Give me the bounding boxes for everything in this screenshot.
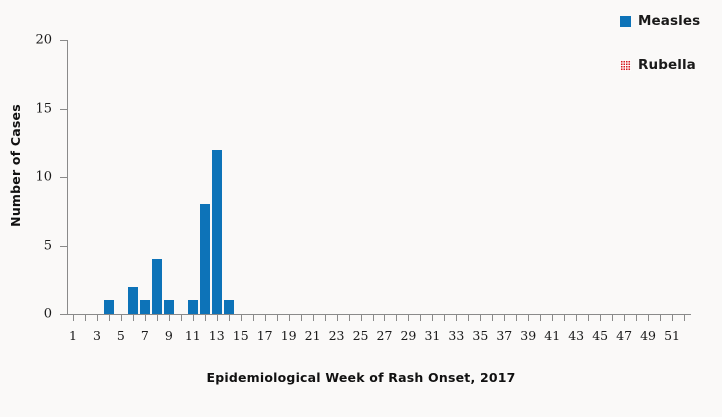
x-axis-tick <box>456 315 457 321</box>
y-axis-tick <box>60 109 67 110</box>
x-axis-tick-label: 7 <box>141 328 149 343</box>
x-axis-tick-label: 39 <box>520 328 536 343</box>
x-axis-tick <box>408 315 409 321</box>
y-axis-tick-label: 5 <box>0 238 52 253</box>
bar-measles-week-8[interactable] <box>152 259 162 314</box>
x-axis-tick-label: 19 <box>281 328 297 343</box>
y-axis-tick <box>60 40 67 41</box>
x-axis-tick <box>396 315 397 321</box>
bar-measles-week-9[interactable] <box>164 300 174 314</box>
x-axis-tick <box>516 315 517 321</box>
x-axis-tick <box>420 315 421 321</box>
x-axis-tick <box>552 315 553 321</box>
x-axis-tick-label: 3 <box>93 328 101 343</box>
x-axis-tick <box>432 315 433 321</box>
x-axis-tick-label: 13 <box>209 328 225 343</box>
y-axis-tick-label: 20 <box>0 33 52 48</box>
plot-area <box>67 40 690 314</box>
y-axis-tick <box>60 177 67 178</box>
x-axis-tick <box>672 315 673 321</box>
x-axis-tick <box>97 315 98 321</box>
x-axis-tick <box>193 315 194 321</box>
x-axis-title-text: Epidemiological Week of Rash Onset, 2017 <box>206 370 515 385</box>
x-axis-tick <box>253 315 254 321</box>
x-axis-tick-label: 9 <box>165 328 173 343</box>
x-axis-tick <box>121 315 122 321</box>
x-axis-tick <box>109 315 110 321</box>
x-axis-tick <box>217 315 218 321</box>
x-axis-tick <box>684 315 685 321</box>
x-axis-tick-label: 5 <box>117 328 125 343</box>
bar-measles-week-13[interactable] <box>212 150 222 314</box>
x-axis-tick <box>229 315 230 321</box>
x-axis-tick <box>528 315 529 321</box>
x-axis-tick <box>660 315 661 321</box>
x-axis-tick-label: 45 <box>592 328 608 343</box>
x-axis-tick-label: 15 <box>233 328 249 343</box>
x-axis-tick <box>540 315 541 321</box>
x-axis-title: Epidemiological Week of Rash Onset, 2017 <box>0 370 722 385</box>
x-axis-tick-label: 17 <box>257 328 273 343</box>
solid-blue-square-icon <box>620 16 631 27</box>
x-axis-tick <box>361 315 362 321</box>
x-axis-tick <box>85 315 86 321</box>
x-axis-tick-label: 29 <box>400 328 416 343</box>
bar-measles-week-12[interactable] <box>200 204 210 314</box>
x-axis-tick-label: 49 <box>640 328 656 343</box>
x-axis-tick <box>624 315 625 321</box>
bar-measles-week-6[interactable] <box>128 287 138 314</box>
x-axis-tick-label: 31 <box>424 328 440 343</box>
x-axis-tick-label: 35 <box>472 328 488 343</box>
x-axis-tick <box>588 315 589 321</box>
x-axis-tick <box>325 315 326 321</box>
x-axis-tick <box>636 315 637 321</box>
x-axis-tick-label: 23 <box>329 328 345 343</box>
x-axis-tick <box>349 315 350 321</box>
x-axis-tick <box>169 315 170 321</box>
x-axis-tick <box>504 315 505 321</box>
x-axis-tick-label: 21 <box>305 328 321 343</box>
bar-measles-week-14[interactable] <box>224 300 234 314</box>
x-axis-tick <box>313 315 314 321</box>
legend-item-measles[interactable]: Measles <box>620 10 720 32</box>
x-axis-tick <box>145 315 146 321</box>
measles-rubella-bar-chart: Measles Rubella Number of Cases 05101520… <box>0 0 722 417</box>
x-axis-tick <box>492 315 493 321</box>
legend-label-measles: Measles <box>638 13 700 29</box>
y-axis-tick-label: 10 <box>0 170 52 185</box>
x-axis-tick <box>73 315 74 321</box>
x-axis-tick-label: 51 <box>664 328 680 343</box>
x-axis-tick <box>289 315 290 321</box>
x-axis-tick <box>468 315 469 321</box>
x-axis-tick <box>373 315 374 321</box>
x-axis-tick <box>181 315 182 321</box>
bar-measles-week-11[interactable] <box>188 300 198 314</box>
x-axis-tick-label: 37 <box>496 328 512 343</box>
x-axis-tick <box>384 315 385 321</box>
x-axis-tick <box>444 315 445 321</box>
y-axis-tick <box>60 246 67 247</box>
x-axis-tick <box>133 315 134 321</box>
x-axis-tick <box>301 315 302 321</box>
x-axis-tick <box>612 315 613 321</box>
x-axis-tick <box>337 315 338 321</box>
x-axis-tick <box>157 315 158 321</box>
x-axis-tick-label: 11 <box>185 328 201 343</box>
x-axis-tick-label: 27 <box>377 328 393 343</box>
y-axis-tick-label: 15 <box>0 101 52 116</box>
x-axis-tick <box>648 315 649 321</box>
x-axis-tick <box>600 315 601 321</box>
x-axis-tick <box>277 315 278 321</box>
x-axis-tick <box>265 315 266 321</box>
x-axis-line <box>67 314 691 315</box>
x-axis-tick <box>576 315 577 321</box>
y-axis-tick <box>60 314 67 315</box>
y-axis-title-text: Number of Cases <box>8 104 23 227</box>
x-axis-tick-label: 43 <box>568 328 584 343</box>
bar-measles-week-7[interactable] <box>140 300 150 314</box>
x-axis-tick <box>564 315 565 321</box>
x-axis-tick-label: 1 <box>69 328 77 343</box>
x-axis-tick-label: 41 <box>544 328 560 343</box>
y-axis-tick-label: 0 <box>0 307 52 322</box>
x-axis-tick-label: 47 <box>616 328 632 343</box>
y-axis-title: Number of Cases <box>2 0 28 330</box>
x-axis-tick-label: 25 <box>353 328 369 343</box>
x-axis-tick <box>480 315 481 321</box>
bar-measles-week-4[interactable] <box>104 300 114 314</box>
x-axis-tick <box>205 315 206 321</box>
x-axis-tick-label: 33 <box>448 328 464 343</box>
x-axis-tick <box>241 315 242 321</box>
